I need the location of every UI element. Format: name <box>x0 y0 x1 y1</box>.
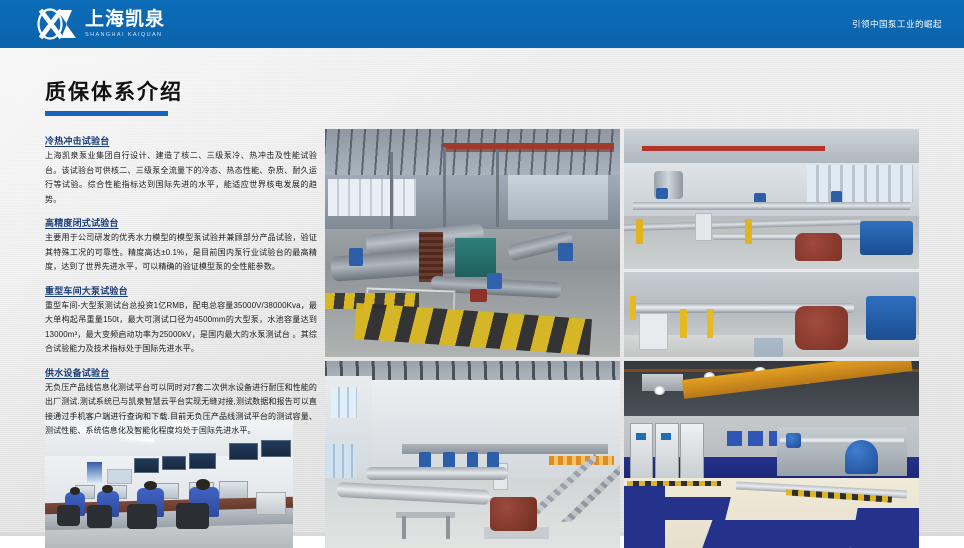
photo-large-pump-motor-rig <box>624 272 919 357</box>
section-body: 主要用于公司研发的优秀水力模型的模型泵试验并兼顾部分产品试验，验证其特殊工况的可… <box>45 231 317 275</box>
photo-nuclear-pump-test-hall <box>325 129 620 357</box>
section-heading: 高精度闭式试验台 <box>45 216 317 230</box>
slide-canvas: 质保体系介绍 冷热冲击试验台 上海凯泉泵业集团自行设计、建造了核二、三级泵冷、热… <box>0 48 964 532</box>
section-body: 上海凯泉泵业集团自行设计、建造了核二、三级泵冷、热冲击及性能试验台。该试验台可供… <box>45 149 317 207</box>
section-heading: 冷热冲击试验台 <box>45 134 317 148</box>
photo-closed-loop-test-hall <box>624 129 919 269</box>
brand-name-en: SHANGHAI KAIQUAN <box>85 31 165 39</box>
sections-list: 冷热冲击试验台 上海凯泉泵业集团自行设计、建造了核二、三级泵冷、热冲击及性能试验… <box>45 134 317 439</box>
kaiquan-logo-icon <box>36 7 78 41</box>
photo-water-supply-lab <box>624 361 919 548</box>
section-heavy-workshop-large-pump: 重型车间大泵试验台 重型车间-大型泵测试台总投资1亿RMB，配电总容量35000… <box>45 284 317 357</box>
photo-heavy-workshop <box>325 361 620 548</box>
section-body: 重型车间-大型泵测试台总投资1亿RMB，配电总容量35000V/38000Kva… <box>45 299 317 357</box>
page-title: 质保体系介绍 <box>45 80 317 106</box>
brand-text: 上海凯泉 SHANGHAI KAIQUAN <box>85 10 165 39</box>
section-cold-hot-shock: 冷热冲击试验台 上海凯泉泵业集团自行设计、建造了核二、三级泵冷、热冲击及性能试验… <box>45 134 317 207</box>
slide-root: 上海凯泉 SHANGHAI KAIQUAN 引领中国泵工业的崛起 质保体系介绍 … <box>0 0 964 548</box>
text-column: 质保体系介绍 冷热冲击试验台 上海凯泉泵业集团自行设计、建造了核二、三级泵冷、热… <box>45 80 317 448</box>
section-heading: 供水设备试验台 <box>45 366 317 380</box>
brand-logo[interactable]: 上海凯泉 SHANGHAI KAIQUAN <box>36 7 165 41</box>
title-underline-rule <box>45 111 168 116</box>
page-header: 上海凯泉 SHANGHAI KAIQUAN 引领中国泵工业的崛起 <box>0 0 964 48</box>
section-body: 无负压产品线信息化测试平台可以同时对7套二次供水设备进行耐压和性能的出厂测试.测… <box>45 381 317 439</box>
section-heading: 重型车间大泵试验台 <box>45 284 317 298</box>
brand-name-cn: 上海凯泉 <box>85 10 165 30</box>
section-water-supply-equipment: 供水设备试验台 无负压产品线信息化测试平台可以同时对7套二次供水设备进行耐压和性… <box>45 366 317 439</box>
section-high-precision-closed-loop: 高精度闭式试验台 主要用于公司研发的优秀水力模型的模型泵试验并兼顾部分产品试验，… <box>45 216 317 275</box>
header-tagline: 引领中国泵工业的崛起 <box>852 18 942 30</box>
